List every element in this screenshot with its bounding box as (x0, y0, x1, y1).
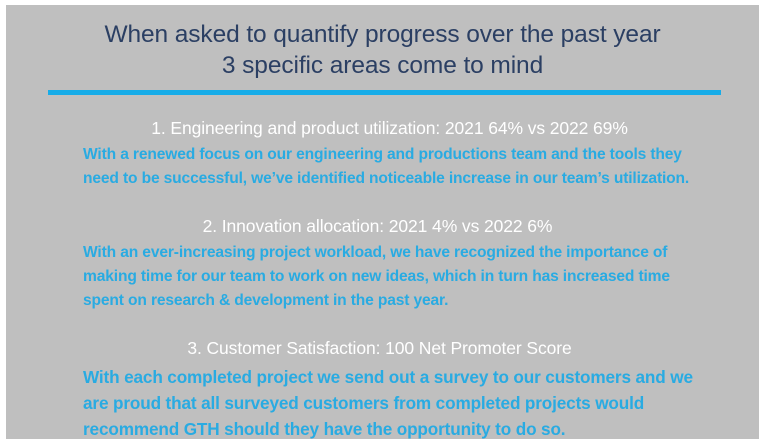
slide-title-line-1: When asked to quantify progress over the… (6, 19, 759, 50)
slide-canvas: When asked to quantify progress over the… (6, 5, 759, 439)
section-2-body: With an ever-increasing project workload… (83, 241, 728, 313)
content-section-2: 2. Innovation allocation: 2021 4% vs 202… (6, 213, 759, 313)
section-3-body-line-2: are proud that all surveyed customers fr… (83, 390, 743, 416)
section-3-body-line-3: recommend GTH should they have the oppor… (83, 416, 743, 439)
section-2-body-line-2: making time for our team to work on new … (83, 265, 728, 289)
slide-frame: When asked to quantify progress over the… (0, 0, 768, 444)
content-section-1: 1. Engineering and product utilization: … (6, 115, 759, 191)
slide-title-line-2: 3 specific areas come to mind (6, 50, 759, 81)
title-accent-rule (48, 90, 721, 95)
content-section-3: 3. Customer Satisfaction: 100 Net Promot… (6, 335, 759, 439)
section-2-heading: 2. Innovation allocation: 2021 4% vs 202… (6, 213, 759, 239)
section-3-body-line-1: With each completed project we send out … (83, 364, 743, 390)
section-1-body-line-2: need to be successful, we’ve identified … (83, 167, 728, 191)
section-3-heading: 3. Customer Satisfaction: 100 Net Promot… (6, 335, 759, 361)
section-2-body-line-3: spent on research & development in the p… (83, 289, 728, 313)
section-1-body: With a renewed focus on our engineering … (83, 143, 728, 191)
section-3-body: With each completed project we send out … (83, 364, 743, 439)
section-1-body-line-1: With a renewed focus on our engineering … (83, 143, 728, 167)
section-2-body-line-1: With an ever-increasing project workload… (83, 241, 728, 265)
slide-title: When asked to quantify progress over the… (6, 19, 759, 81)
slide-content: 1. Engineering and product utilization: … (6, 115, 759, 439)
section-1-heading: 1. Engineering and product utilization: … (6, 115, 759, 141)
